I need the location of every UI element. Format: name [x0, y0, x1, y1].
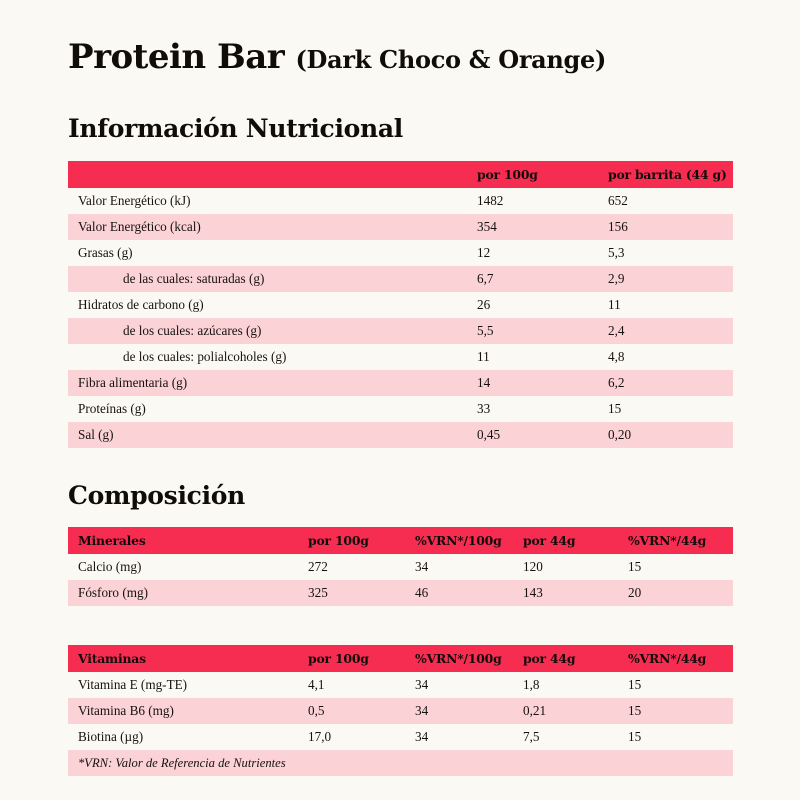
value-per-100g: 5,5	[477, 318, 608, 344]
column-header-vrn44: %VRN*/44g	[628, 527, 733, 554]
column-header-per44g: por 44g	[523, 645, 628, 672]
value-vrn-100g: 34	[415, 672, 523, 698]
value-per-bar: 0,20	[608, 422, 733, 448]
value-per-bar: 156	[608, 214, 733, 240]
nutrient-label: Vitamina E (mg-TE)	[68, 672, 308, 698]
value-vrn-100g: 34	[415, 698, 523, 724]
value-per-bar: 4,8	[608, 344, 733, 370]
vitamins-table-body: Vitamina E (mg-TE)4,1341,815Vitamina B6 …	[68, 672, 733, 750]
table-header-row: Minerales por 100g %VRN*/100g por 44g %V…	[68, 527, 733, 554]
value-per-100g: 354	[477, 214, 608, 240]
nutrient-label: Calcio (mg)	[68, 554, 308, 580]
value-per-100g: 33	[477, 396, 608, 422]
column-header-vrn100: %VRN*/100g	[415, 645, 523, 672]
value-vrn-100g: 34	[415, 554, 523, 580]
table-row: de los cuales: polialcoholes (g)114,8	[68, 344, 733, 370]
nutrient-label: Fibra alimentaria (g)	[68, 370, 477, 396]
table-row: Fibra alimentaria (g)146,2	[68, 370, 733, 396]
column-header-vitamins: Vitaminas	[68, 645, 308, 672]
column-header-vrn44: %VRN*/44g	[628, 645, 733, 672]
table-row: Calcio (mg)2723412015	[68, 554, 733, 580]
nutrient-label: Biotina (µg)	[68, 724, 308, 750]
value-per-100g: 1482	[477, 188, 608, 214]
value-vrn-44g: 20	[628, 580, 733, 606]
nutrient-label: Valor Energético (kcal)	[68, 214, 477, 240]
table-row: Vitamina E (mg-TE)4,1341,815	[68, 672, 733, 698]
value-per-100g: 14	[477, 370, 608, 396]
value-per-100g: 12	[477, 240, 608, 266]
value-per-44g: 7,5	[523, 724, 628, 750]
value-per-bar: 2,9	[608, 266, 733, 292]
nutrient-label: Valor Energético (kJ)	[68, 188, 477, 214]
column-header-per100g: por 100g	[477, 161, 608, 188]
column-header-minerals: Minerales	[68, 527, 308, 554]
value-per-bar: 11	[608, 292, 733, 318]
table-row: Vitamina B6 (mg)0,5340,2115	[68, 698, 733, 724]
vitamins-table-foot: *VRN: Valor de Referencia de Nutrientes	[68, 750, 733, 776]
value-per-100g: 11	[477, 344, 608, 370]
nutrition-table-head: por 100g por barrita (44 g)	[68, 161, 733, 188]
table-header-row: Vitaminas por 100g %VRN*/100g por 44g %V…	[68, 645, 733, 672]
table-row: de las cuales: saturadas (g)6,72,9	[68, 266, 733, 292]
product-variant: (Dark Choco & Orange)	[296, 45, 607, 74]
value-per-44g: 0,21	[523, 698, 628, 724]
table-row: de los cuales: azúcares (g)5,52,4	[68, 318, 733, 344]
table-row: Fósforo (mg)3254614320	[68, 580, 733, 606]
value-per-bar: 5,3	[608, 240, 733, 266]
value-per-100g: 4,1	[308, 672, 415, 698]
nutrient-label: Proteínas (g)	[68, 396, 477, 422]
nutrient-label: de los cuales: azúcares (g)	[68, 318, 477, 344]
nutrient-label: de las cuales: saturadas (g)	[68, 266, 477, 292]
table-header-row: por 100g por barrita (44 g)	[68, 161, 733, 188]
value-vrn-44g: 15	[628, 672, 733, 698]
nutrient-label: Vitamina B6 (mg)	[68, 698, 308, 724]
value-per-100g: 0,45	[477, 422, 608, 448]
nutrient-label: de los cuales: polialcoholes (g)	[68, 344, 477, 370]
nutrient-label: Sal (g)	[68, 422, 477, 448]
vitamins-table-head: Vitaminas por 100g %VRN*/100g por 44g %V…	[68, 645, 733, 672]
nutrition-table-body: Valor Energético (kJ)1482652Valor Energé…	[68, 188, 733, 448]
value-per-bar: 652	[608, 188, 733, 214]
footnote-row: *VRN: Valor de Referencia de Nutrientes	[68, 750, 733, 776]
table-row: Valor Energético (kcal)354156	[68, 214, 733, 240]
nutrition-table: por 100g por barrita (44 g) Valor Energé…	[68, 161, 733, 448]
value-per-44g: 120	[523, 554, 628, 580]
nutrient-label: Fósforo (mg)	[68, 580, 308, 606]
value-per-44g: 143	[523, 580, 628, 606]
value-per-bar: 2,4	[608, 318, 733, 344]
value-vrn-100g: 34	[415, 724, 523, 750]
section-heading-composition: Composición	[68, 448, 732, 510]
value-per-100g: 26	[477, 292, 608, 318]
column-header-per44g: por 44g	[523, 527, 628, 554]
table-row: Grasas (g)125,3	[68, 240, 733, 266]
column-header-perbar: por barrita (44 g)	[608, 161, 733, 188]
table-row: Valor Energético (kJ)1482652	[68, 188, 733, 214]
column-header-per100g: por 100g	[308, 645, 415, 672]
value-vrn-100g: 46	[415, 580, 523, 606]
table-row: Hidratos de carbono (g)2611	[68, 292, 733, 318]
value-per-100g: 325	[308, 580, 415, 606]
product-name: Protein Bar	[68, 37, 284, 77]
value-per-100g: 272	[308, 554, 415, 580]
value-vrn-44g: 15	[628, 554, 733, 580]
table-row: Sal (g)0,450,20	[68, 422, 733, 448]
page-title: Protein Bar (Dark Choco & Orange)	[68, 0, 732, 76]
minerals-table: Minerales por 100g %VRN*/100g por 44g %V…	[68, 527, 733, 606]
section-heading-nutrition: Información Nutricional	[68, 76, 732, 143]
column-header-per100g: por 100g	[308, 527, 415, 554]
nutrient-label: Grasas (g)	[68, 240, 477, 266]
minerals-table-body: Calcio (mg)2723412015Fósforo (mg)3254614…	[68, 554, 733, 606]
table-row: Proteínas (g)3315	[68, 396, 733, 422]
minerals-table-head: Minerales por 100g %VRN*/100g por 44g %V…	[68, 527, 733, 554]
nutrient-label: Hidratos de carbono (g)	[68, 292, 477, 318]
value-vrn-44g: 15	[628, 698, 733, 724]
value-per-100g: 6,7	[477, 266, 608, 292]
value-per-100g: 17,0	[308, 724, 415, 750]
column-header-label	[68, 161, 477, 188]
value-per-100g: 0,5	[308, 698, 415, 724]
nutrition-label-page: Protein Bar (Dark Choco & Orange) Inform…	[0, 0, 800, 800]
vrn-footnote: *VRN: Valor de Referencia de Nutrientes	[68, 750, 733, 776]
vitamins-table: Vitaminas por 100g %VRN*/100g por 44g %V…	[68, 645, 733, 776]
value-per-44g: 1,8	[523, 672, 628, 698]
value-vrn-44g: 15	[628, 724, 733, 750]
value-per-bar: 6,2	[608, 370, 733, 396]
column-header-vrn100: %VRN*/100g	[415, 527, 523, 554]
value-per-bar: 15	[608, 396, 733, 422]
table-row: Biotina (µg)17,0347,515	[68, 724, 733, 750]
